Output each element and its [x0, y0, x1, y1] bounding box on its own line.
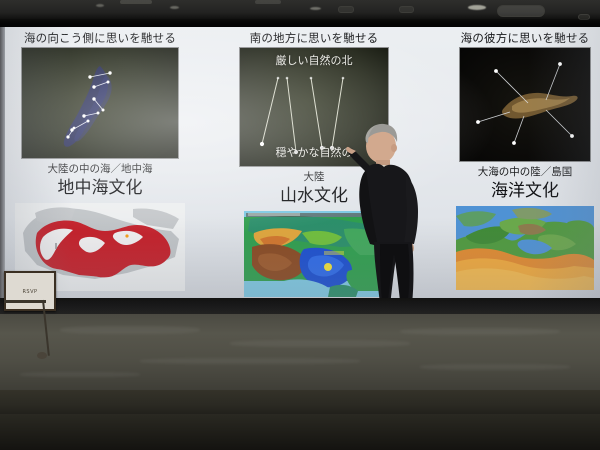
column-title-mediterranean: 地中海文化 [8, 178, 192, 199]
ceiling-vent [399, 6, 414, 13]
stage-floor [0, 414, 600, 450]
column-title-ocean: 海洋文化 [452, 181, 598, 202]
column-subtitle-mediterranean: 大陸の中の海／地中海 [8, 163, 192, 176]
slide-column-mediterranean: 海の向こう側に思いを馳せる [8, 27, 192, 291]
ceiling-light [468, 5, 486, 10]
stage-grain [400, 328, 560, 335]
island-constellation-graphic [460, 48, 590, 161]
panel-japan-constellation [22, 48, 178, 158]
slide-column-ocean: 海の彼方に思いを馳せる [452, 27, 598, 290]
column-heading-landscape: 南の地方に思いを馳せる [234, 27, 394, 45]
stage-grain [140, 358, 360, 364]
ceiling-vent [255, 0, 281, 4]
stage-presentation-photo: 海の向こう側に思いを馳せる [0, 0, 600, 450]
eurasia-relief-graphic [456, 206, 594, 290]
stage-platform-top [0, 314, 600, 392]
projection-screen: 海の向こう側に思いを馳せる [0, 27, 600, 298]
ceiling-light [310, 7, 321, 10]
ceiling-vent [120, 0, 152, 4]
ceiling-light [170, 6, 179, 9]
stage-placard: RSVP [4, 271, 56, 311]
ceiling-light [96, 4, 104, 7]
ceiling-band [0, 0, 600, 27]
placard-bracket [4, 300, 46, 303]
panel-island-constellation [460, 48, 590, 161]
column-subtitle-ocean: 大海の中の陸／島国 [452, 166, 598, 179]
ceiling-vent [497, 5, 545, 17]
ceiling-vent [338, 6, 354, 13]
stage-grain [60, 326, 200, 334]
stage-grain [420, 364, 570, 370]
panel-inner-text-top: 厳しい自然の北 [240, 54, 388, 67]
screen-left-edge [0, 27, 5, 298]
placard-foot [37, 352, 47, 359]
map-northern-eurasia-relief [456, 206, 594, 290]
column-heading-mediterranean: 海の向こう側に思いを馳せる [8, 27, 192, 45]
column-heading-ocean: 海の彼方に思いを馳せる [452, 27, 598, 45]
stage-riser [0, 390, 600, 416]
stage-grain [20, 372, 140, 377]
stage-grain [230, 340, 410, 347]
placard-label: RSVP [6, 289, 54, 295]
japan-archipelago-graphic [22, 48, 178, 158]
